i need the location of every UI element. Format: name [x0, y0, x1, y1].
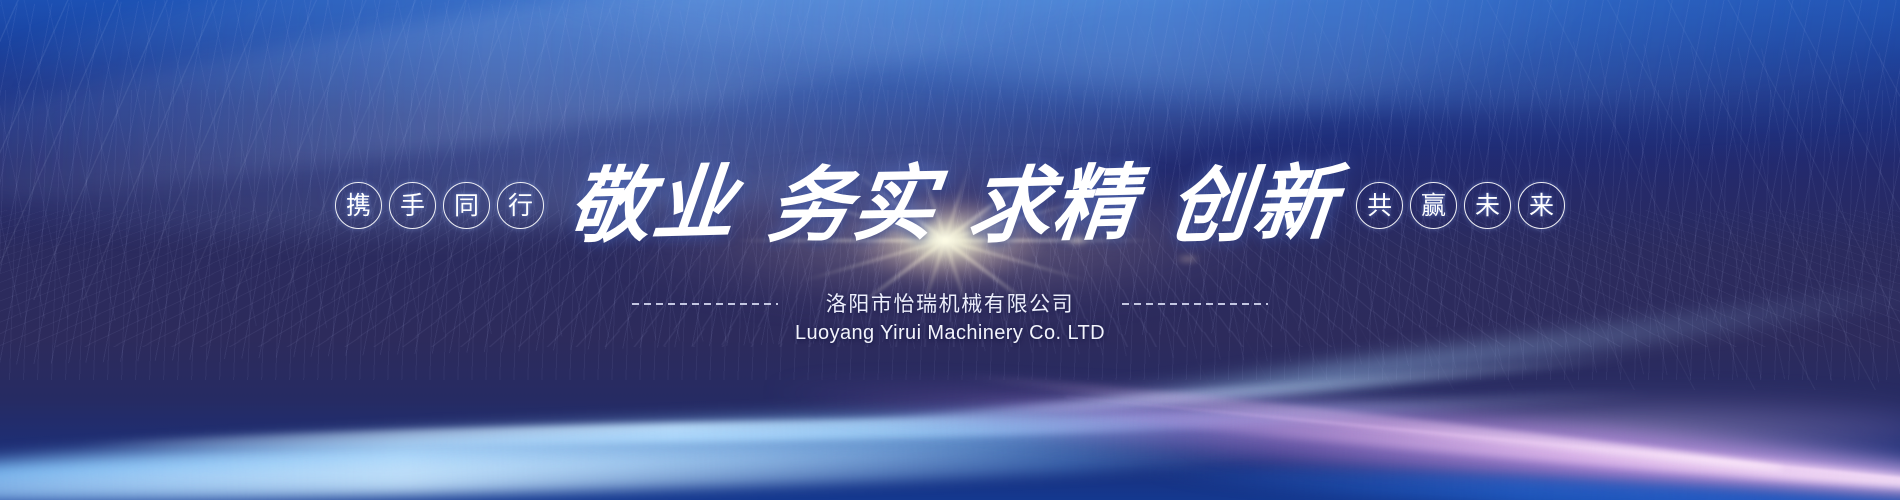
circle-badge-xing: 行 [497, 182, 544, 229]
calligraphy-word-chuangxin: 创新 [1162, 162, 1344, 249]
calligraphy-word-wushi: 务实 [761, 162, 945, 247]
circle-badge-lai: 来 [1518, 182, 1565, 229]
circle-badge-shou: 手 [389, 182, 436, 229]
company-name-cn: 洛阳市怡瑞机械有限公司 [826, 288, 1075, 318]
calligraphy-word-qiujing: 求精 [962, 162, 1144, 249]
calligraphy-slogan: 敬业 务实 求精 创新 [566, 164, 1340, 246]
right-circle-group: 共 赢 未 来 [1356, 182, 1565, 229]
circle-badge-ying: 赢 [1410, 182, 1457, 229]
company-name-block: 洛阳市怡瑞机械有限公司 Luoyang Yirui Machinery Co. … [0, 288, 1900, 345]
calligraphy-word-jingye: 敬业 [562, 162, 744, 249]
company-culture-banner: 携 手 同 行 敬业 务实 求精 创新 共 赢 未 来 [0, 0, 1900, 500]
circle-badge-tong: 同 [443, 182, 490, 229]
circle-badge-wei: 未 [1464, 182, 1511, 229]
left-circle-group: 携 手 同 行 [335, 182, 544, 229]
banner-content: 携 手 同 行 敬业 务实 求精 创新 共 赢 未 来 [0, 0, 1900, 500]
slogan-row: 携 手 同 行 敬业 务实 求精 创新 共 赢 未 来 [0, 150, 1900, 260]
circle-badge-xie: 携 [335, 182, 382, 229]
company-name-en: Luoyang Yirui Machinery Co. LTD [795, 322, 1105, 345]
circle-badge-gong: 共 [1356, 182, 1403, 229]
